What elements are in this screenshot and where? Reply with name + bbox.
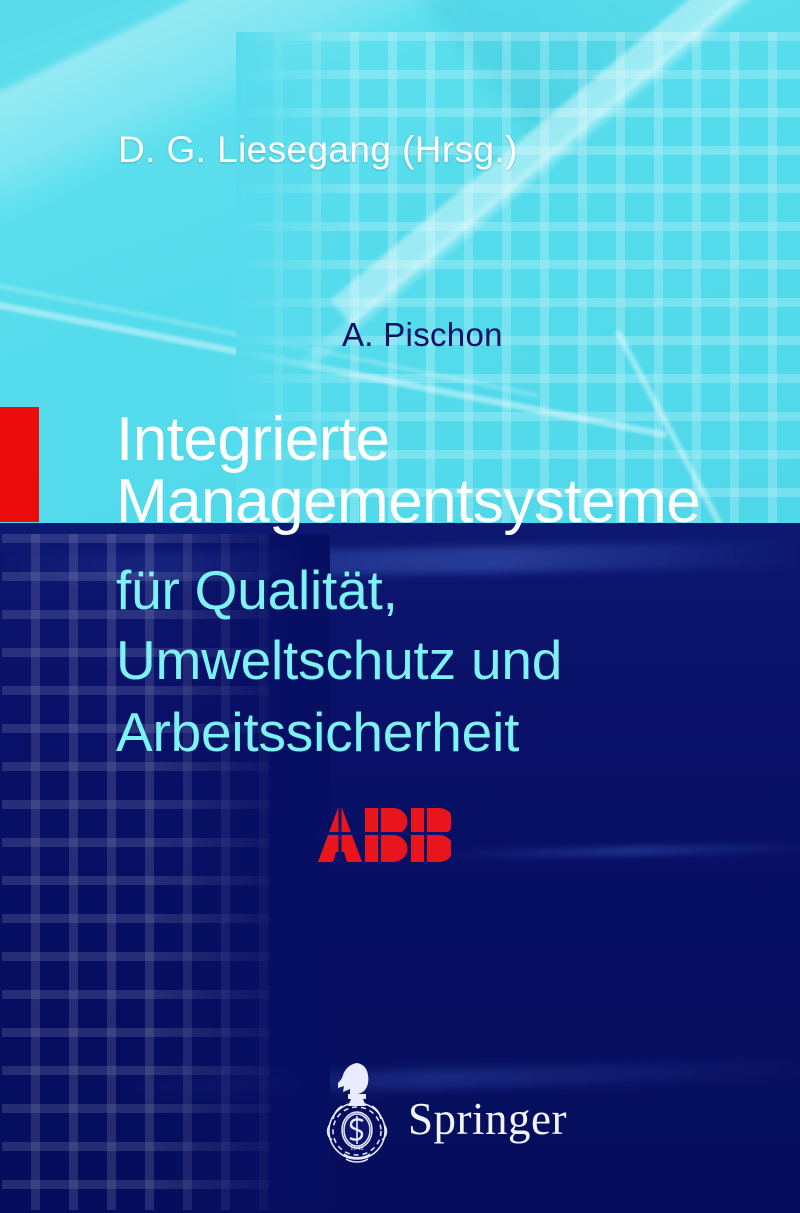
springer-wordmark: Springer <box>408 1097 567 1142</box>
editor-name: D. G. Liesegang (Hrsg.) <box>118 129 518 171</box>
springer-seal-icon: 1842 <box>322 1058 392 1166</box>
title-line-2: Managementsysteme <box>116 466 700 537</box>
subtitle-line-1: für Qualität, <box>116 558 398 622</box>
author-name: A. Pischon <box>342 316 503 354</box>
subtitle-line-3: Arbeitssicherheit <box>116 700 519 764</box>
book-cover: D. G. Liesegang (Hrsg.) A. Pischon Integ… <box>0 0 800 1213</box>
svg-text:1842: 1842 <box>350 1144 365 1152</box>
title-line-1: Integrierte <box>116 404 390 475</box>
abb-logo <box>318 808 451 862</box>
red-accent-bar <box>0 407 39 522</box>
springer-logo: 1842 Springer <box>322 1058 567 1166</box>
subtitle-line-2: Umweltschutz und <box>116 628 562 692</box>
